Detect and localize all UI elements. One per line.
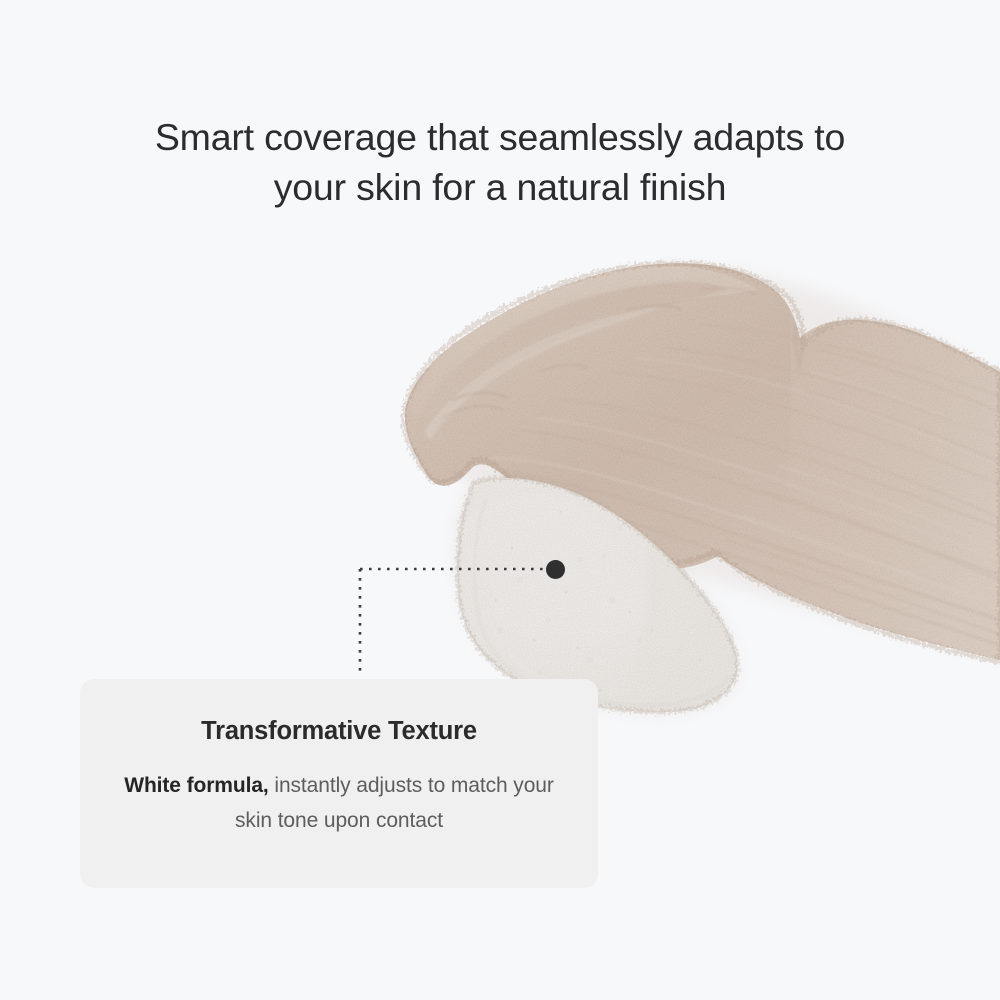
callout-card-body-rest: instantly adjusts to match your skin ton… [235,774,554,832]
callout-card-body-emphasis: White formula, [124,774,268,797]
callout-marker-dot[interactable] [546,560,565,579]
product-feature-graphic: Smart coverage that seamlessly adapts to… [0,0,1000,1000]
callout-card-title: Transformative Texture [80,717,598,746]
callout-card: Transformative Texture White formula, in… [80,679,598,888]
callout-card-body: White formula, instantly adjusts to matc… [80,768,598,838]
